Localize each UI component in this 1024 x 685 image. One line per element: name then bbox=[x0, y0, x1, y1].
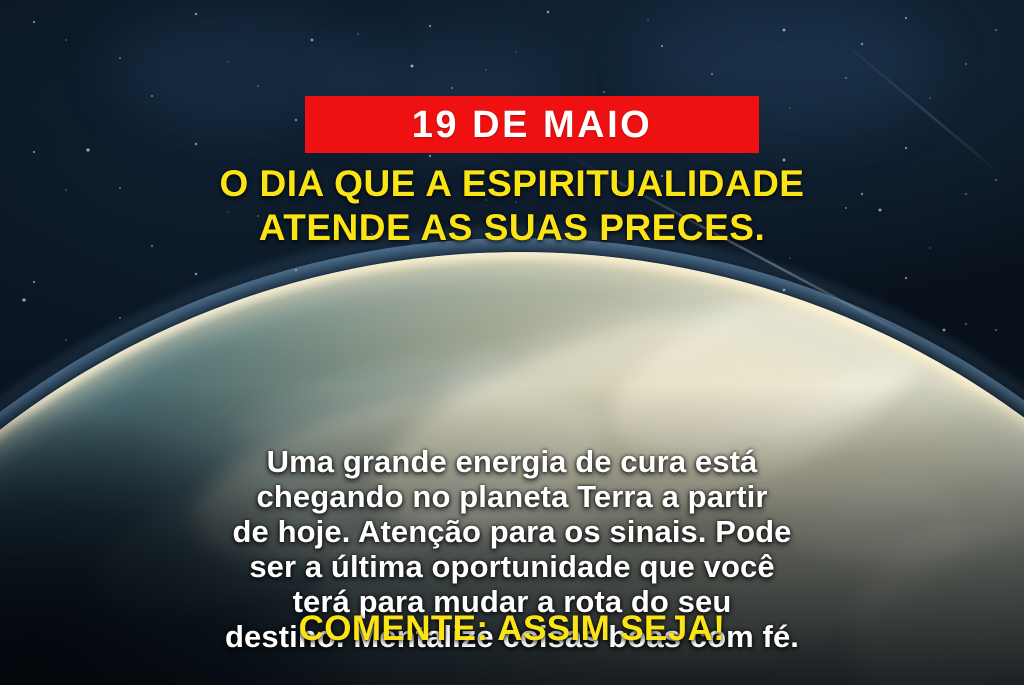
poster-canvas: 19 DE MAIO O DIA QUE A ESPIRITUALIDADE A… bbox=[0, 0, 1024, 685]
body-line-1: Uma grande energia de cura está bbox=[0, 444, 1024, 479]
headline-line-2: ATENDE AS SUAS PRECES. bbox=[0, 206, 1024, 250]
headline-line-1: O DIA QUE A ESPIRITUALIDADE bbox=[0, 162, 1024, 206]
poster-content: 19 DE MAIO O DIA QUE A ESPIRITUALIDADE A… bbox=[0, 0, 1024, 685]
date-banner-text: 19 DE MAIO bbox=[412, 106, 652, 144]
date-banner: 19 DE MAIO bbox=[305, 96, 759, 153]
call-to-action-text: COMENTE: ASSIM SEJA! bbox=[0, 610, 1024, 649]
body-line-2: chegando no planeta Terra a partir bbox=[0, 479, 1024, 514]
body-line-4: ser a última oportunidade que você bbox=[0, 549, 1024, 584]
headline: O DIA QUE A ESPIRITUALIDADE ATENDE AS SU… bbox=[0, 162, 1024, 250]
body-line-3: de hoje. Atenção para os sinais. Pode bbox=[0, 514, 1024, 549]
